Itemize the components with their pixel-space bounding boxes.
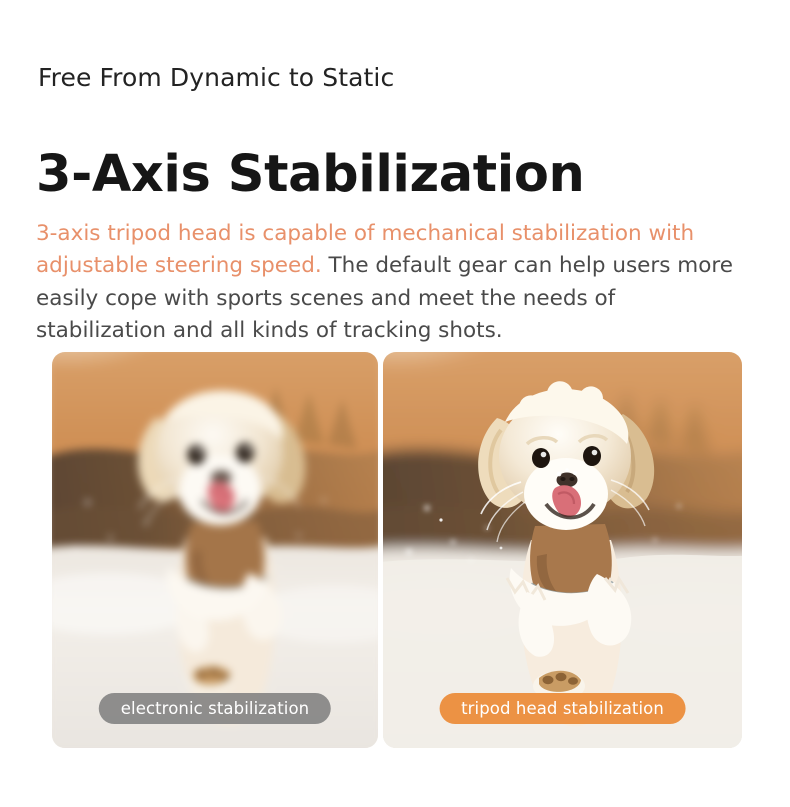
tripod-head-stabilization-photo xyxy=(383,352,742,748)
electronic-stabilization-photo xyxy=(52,352,378,748)
promo-page: Free From Dynamic to Static 3-Axis Stabi… xyxy=(0,0,790,807)
comparison-panel-right[interactable]: tripod head stabilization xyxy=(383,352,742,748)
page-title: 3-Axis Stabilization xyxy=(36,144,584,206)
comparison-panels: electronic stabilization xyxy=(52,352,742,748)
eyebrow-text: Free From Dynamic to Static xyxy=(38,62,394,94)
badge-electronic-stabilization[interactable]: electronic stabilization xyxy=(99,693,331,724)
body-paragraph: 3-axis tripod head is capable of mechani… xyxy=(36,218,752,348)
comparison-panel-left[interactable]: electronic stabilization xyxy=(52,352,378,748)
badge-tripod-head-stabilization[interactable]: tripod head stabilization xyxy=(439,693,686,724)
